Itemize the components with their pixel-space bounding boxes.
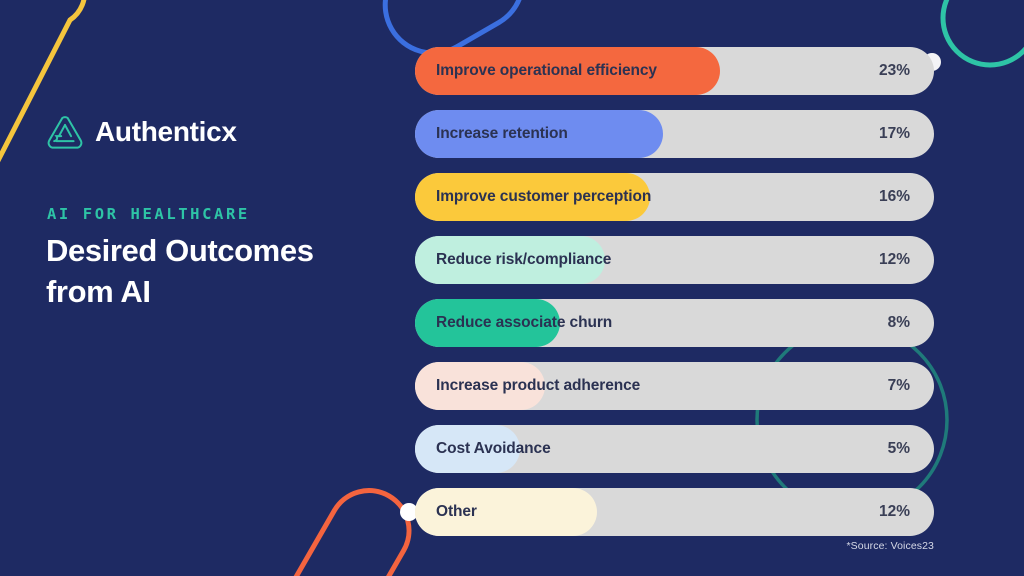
bar-label: Reduce associate churn [436, 299, 612, 347]
page-title-line-1: Desired Outcomes [46, 231, 376, 272]
bar-row: Improve customer perception16% [415, 173, 934, 221]
bar-label: Improve customer perception [436, 173, 651, 221]
source-note: *Source: Voices23 [846, 540, 934, 552]
bar-value: 17% [879, 110, 910, 158]
brand-wordmark: Authenticx [95, 118, 237, 146]
bar-label: Improve operational efficiency [436, 47, 657, 95]
bar-row: Cost Avoidance5% [415, 425, 934, 473]
bar-value: 16% [879, 173, 910, 221]
left-panel: Authenticx AI FOR HEALTHCARE Desired Out… [46, 0, 386, 576]
bar-row: Other12% [415, 488, 934, 536]
bar-value: 7% [888, 362, 910, 410]
bar-value: 5% [888, 425, 910, 473]
bar-label: Reduce risk/compliance [436, 236, 611, 284]
teal-circle-outline [943, 0, 1024, 65]
infographic-slide: Authenticx AI FOR HEALTHCARE Desired Out… [0, 0, 1024, 576]
bar-row: Increase retention17% [415, 110, 934, 158]
page-title: Desired Outcomes from AI [46, 231, 376, 313]
bar-chart: Improve operational efficiency23%Increas… [415, 47, 934, 551]
bar-value: 12% [879, 488, 910, 536]
bar-label: Cost Avoidance [436, 425, 551, 473]
brand-logo[interactable]: Authenticx [46, 113, 237, 151]
page-title-line-2: from AI [46, 272, 376, 313]
bar-label: Increase product adherence [436, 362, 640, 410]
bar-value: 8% [888, 299, 910, 347]
bar-row: Reduce risk/compliance12% [415, 236, 934, 284]
bar-label: Increase retention [436, 110, 568, 158]
bar-row: Reduce associate churn8% [415, 299, 934, 347]
eyebrow-label: AI FOR HEALTHCARE [47, 205, 250, 223]
bar-value: 12% [879, 236, 910, 284]
bar-value: 23% [879, 47, 910, 95]
authenticx-triangle-logo-icon [46, 113, 84, 151]
bar-row: Improve operational efficiency23% [415, 47, 934, 95]
bar-label: Other [436, 488, 477, 536]
bar-row: Increase product adherence7% [415, 362, 934, 410]
